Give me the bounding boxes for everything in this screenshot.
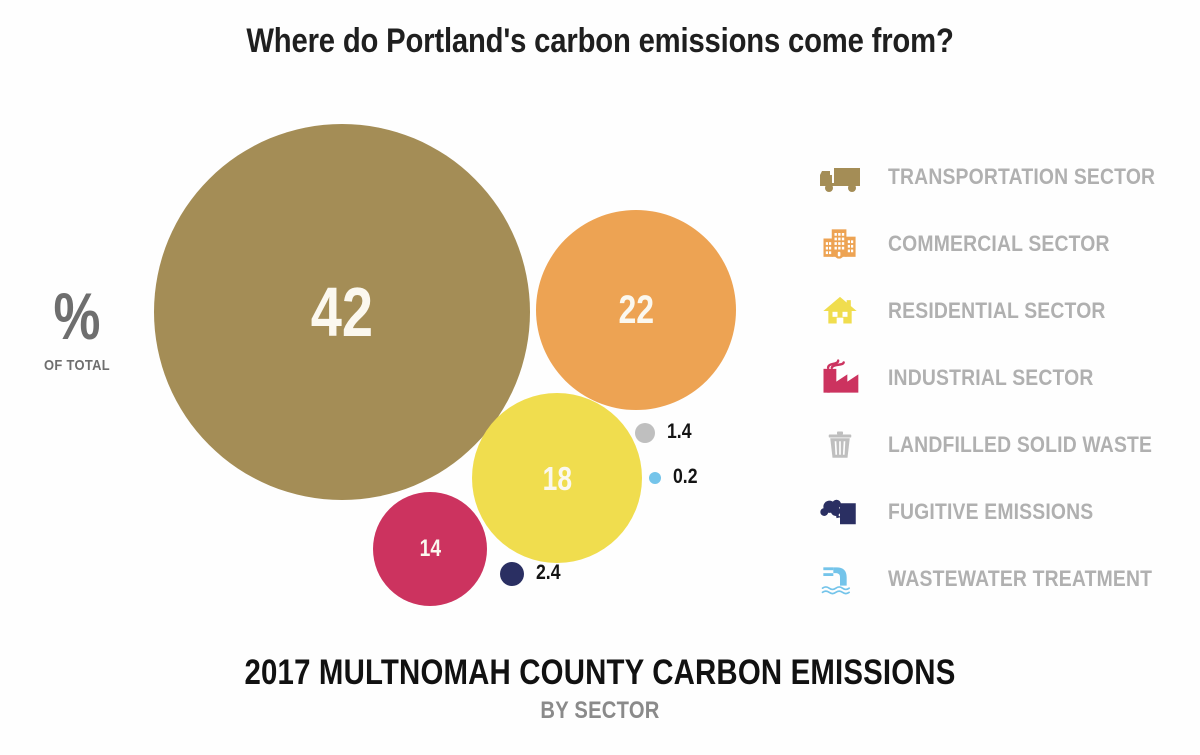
legend-label: TRANSPORTATION SECTOR <box>888 164 1155 190</box>
caption-sub: BY SECTOR <box>96 697 1104 725</box>
bubble-industrial: 14 <box>373 492 487 606</box>
office-buildings-icon <box>812 222 868 266</box>
legend-item-landfilled-solid-waste[interactable]: LANDFILLED SOLID WASTE <box>812 411 1172 478</box>
legend-label: LANDFILLED SOLID WASTE <box>888 432 1152 458</box>
bubble-value-residential: 18 <box>542 462 571 495</box>
bubble-residential: 18 <box>472 393 642 563</box>
legend-label: INDUSTRIAL SECTOR <box>888 365 1094 391</box>
chart-caption: 2017 MULTNOMAH COUNTY CARBON EMISSIONS B… <box>0 653 1200 725</box>
bubble-transportation: 42 <box>154 124 530 500</box>
bubble-fugitive-emissions <box>500 562 524 586</box>
house-icon <box>812 289 868 333</box>
bubble-commercial: 22 <box>536 210 736 410</box>
legend-label: COMMERCIAL SECTOR <box>888 231 1110 257</box>
legend: TRANSPORTATION SECTORCOMMERCIAL SECTORRE… <box>812 143 1172 612</box>
bubble-value-industrial: 14 <box>419 537 440 561</box>
legend-item-commercial-sector[interactable]: COMMERCIAL SECTOR <box>812 210 1172 277</box>
bubble-wastewater-treatment <box>649 472 661 484</box>
truck-icon <box>812 155 868 199</box>
legend-item-transportation-sector[interactable]: TRANSPORTATION SECTOR <box>812 143 1172 210</box>
legend-item-wastewater-treatment[interactable]: WASTEWATER TREATMENT <box>812 545 1172 612</box>
legend-label: RESIDENTIAL SECTOR <box>888 298 1106 324</box>
legend-label: WASTEWATER TREATMENT <box>888 566 1152 592</box>
bubble-value-wastewater-treatment: 0.2 <box>673 465 698 489</box>
bubble-value-commercial: 22 <box>618 290 654 330</box>
pipe-discharge-icon <box>812 557 868 601</box>
bubble-value-landfilled-solid-waste: 1.4 <box>667 420 692 444</box>
bubble-value-transportation: 42 <box>311 277 373 347</box>
legend-item-residential-sector[interactable]: RESIDENTIAL SECTOR <box>812 277 1172 344</box>
bubble-value-fugitive-emissions: 2.4 <box>536 561 561 585</box>
factory-icon <box>812 356 868 400</box>
legend-label: FUGITIVE EMISSIONS <box>888 499 1093 525</box>
bubble-chart: 422218141.42.40.2 <box>0 0 800 680</box>
caption-main: 2017 MULTNOMAH COUNTY CARBON EMISSIONS <box>96 653 1104 693</box>
legend-item-industrial-sector[interactable]: INDUSTRIAL SECTOR <box>812 344 1172 411</box>
bubble-landfilled-solid-waste <box>635 423 655 443</box>
legend-item-fugitive-emissions[interactable]: FUGITIVE EMISSIONS <box>812 478 1172 545</box>
gas-leak-icon <box>812 490 868 534</box>
trash-can-icon <box>812 423 868 467</box>
